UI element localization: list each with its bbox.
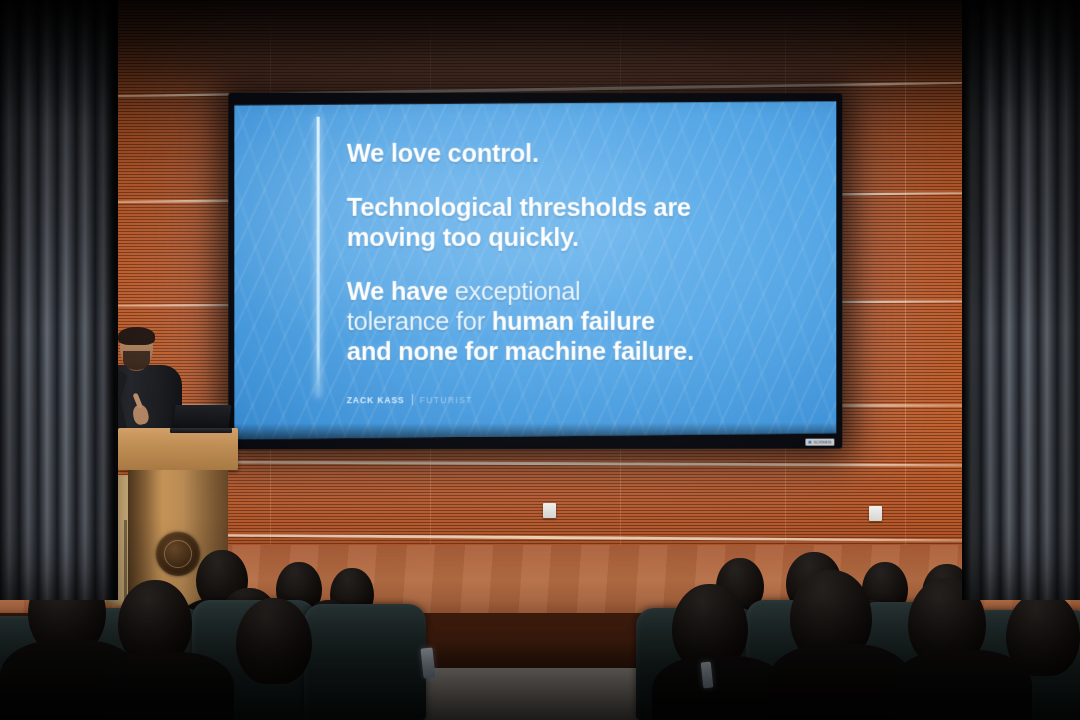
screen-brand-badge: SCREEN: [806, 439, 835, 446]
projector-brand-icon: [809, 441, 812, 444]
curtain-shading: [962, 0, 1080, 600]
speaker-beard: [123, 351, 150, 370]
slide-paragraph-1: We love control.: [347, 139, 767, 169]
right-curtain: [962, 0, 1080, 600]
slide-line-3b-light: tolerance for: [347, 308, 492, 336]
slide-paragraph-2: Technological thresholds are moving too …: [347, 193, 767, 253]
laptop-screen: [173, 405, 232, 429]
logo-name: ZACK KASS: [347, 395, 405, 405]
slide-line-3a-light: exceptional: [455, 278, 581, 306]
auditorium-photo: We love control. Technological threshold…: [0, 0, 1080, 720]
left-curtain: [0, 0, 118, 600]
audience-shoulders: [98, 652, 234, 720]
slide-line-3a-bold: We have: [347, 278, 455, 306]
logo-role: FUTURIST: [420, 395, 473, 405]
logo-divider: [412, 394, 413, 405]
wall-outlet-icon: [543, 503, 556, 518]
wall-outlet-icon: [869, 506, 882, 521]
curtain-shading: [0, 0, 118, 600]
slide-surface: We love control. Technological threshold…: [234, 101, 836, 440]
curtain-edge: [962, 0, 978, 600]
speaker-hair: [118, 327, 155, 345]
slide-line-2a: Technological thresholds are: [347, 194, 691, 222]
slide-body: We love control. Technological threshold…: [347, 139, 767, 367]
slide-line-3c: and none for machine failure.: [347, 338, 694, 366]
audience-shoulders: [892, 650, 1032, 720]
presenter-logo: ZACK KASS FUTURIST: [347, 394, 473, 405]
projection-screen: We love control. Technological threshold…: [228, 93, 842, 450]
attendee-phone-icon: [420, 647, 435, 678]
slide-paragraph-3: We have exceptional tolerance for human …: [347, 277, 767, 367]
presenter-laptop: [170, 405, 232, 435]
audience-shoulders: [768, 644, 912, 720]
laptop-keyboard: [170, 428, 232, 433]
audience: [0, 540, 1080, 720]
audience-seat: [304, 604, 426, 720]
slide-accent-rule: [317, 117, 320, 397]
screen-bottom-shadow: [234, 423, 836, 440]
screen-badge-label: SCREEN: [814, 440, 832, 445]
slide-line-1: We love control.: [347, 140, 539, 168]
slide-line-3b-bold: human failure: [492, 308, 655, 336]
curtain-edge: [102, 0, 118, 600]
slide-line-2b: moving too quickly.: [347, 224, 579, 252]
audience-head: [236, 598, 312, 684]
